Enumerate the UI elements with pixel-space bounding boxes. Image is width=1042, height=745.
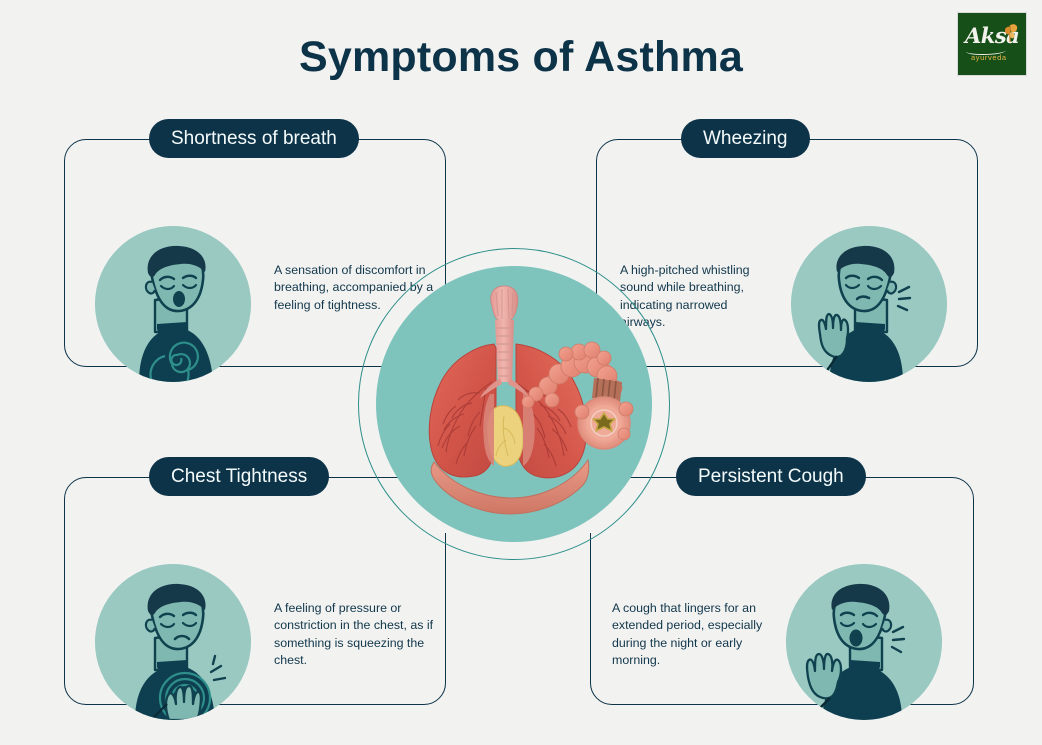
man-wheezing-icon	[791, 226, 947, 382]
logo-tagline-text: ayurveda	[971, 53, 1019, 62]
card-title-wheezing: Wheezing	[681, 119, 810, 158]
butterfly-leaf-icon	[1000, 22, 1020, 44]
card-title-shortness-of-breath: Shortness of breath	[149, 119, 359, 158]
man-breathless-icon	[95, 226, 251, 382]
card-description-chest-tightness: A feeling of pressure or constriction in…	[274, 600, 446, 670]
brand-logo: Aksa ayurveda	[957, 12, 1027, 76]
man-chest-pain-icon	[95, 564, 251, 720]
infographic-canvas: Symptoms of Asthma Aksa ayurveda Shortne…	[0, 0, 1042, 745]
man-coughing-icon	[786, 564, 942, 720]
center-illustration-circle	[358, 248, 670, 560]
card-title-persistent-cough: Persistent Cough	[676, 457, 866, 496]
card-title-chest-tightness: Chest Tightness	[149, 457, 329, 496]
card-description-persistent-cough: A cough that lingers for an extended per…	[612, 600, 777, 670]
page-title: Symptoms of Asthma	[0, 33, 1042, 82]
center-circle-fill	[376, 266, 652, 542]
lungs-anatomy-icon	[376, 266, 652, 542]
